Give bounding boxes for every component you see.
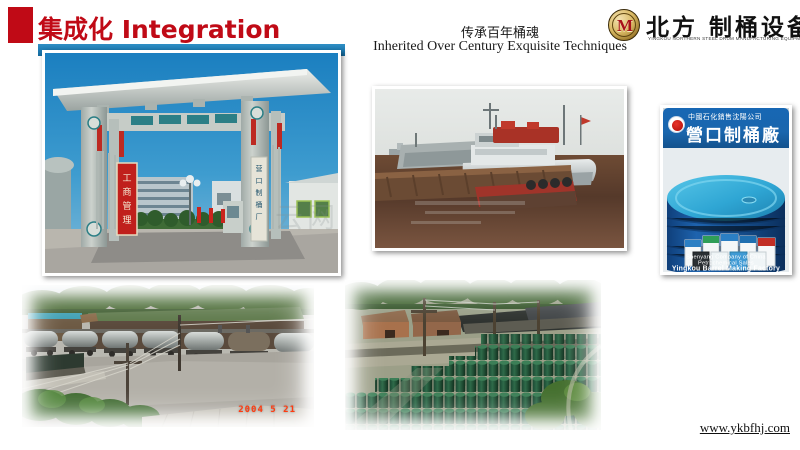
photo-factory-gate: 工商 管理 营口 制桶厂 xyxy=(42,50,341,276)
svg-text:口: 口 xyxy=(256,177,263,185)
banner-board: 中國石化銷售沈陽公司 營口制桶廠 xyxy=(663,108,789,272)
photo-datestamp: 2004 5 21 xyxy=(238,405,296,415)
ship-illustration xyxy=(375,89,624,248)
page-title: 集成化 Integration xyxy=(38,10,280,46)
company-logo: M 北方 制桶设备 YINGKOU NORTHERN STEEL DRUM MA… xyxy=(608,6,794,46)
banner-footer-line3: Yingkou Barrel Making Factory xyxy=(660,265,792,273)
svg-text:制: 制 xyxy=(256,188,263,197)
seal-icon: M xyxy=(608,9,640,41)
photo-drum-storage-yard xyxy=(345,280,601,430)
svg-text:工: 工 xyxy=(122,174,131,184)
svg-text:营: 营 xyxy=(256,164,263,173)
photo-ship-at-dock xyxy=(372,86,627,251)
svg-text:管: 管 xyxy=(122,200,131,212)
company-name-english: YINGKOU NORTHERN STEEL DRUM MANUFACTURIN… xyxy=(648,36,800,41)
drum-yard-illustration xyxy=(345,280,601,430)
seal-letter: M xyxy=(609,10,641,42)
slide-canvas: 集成化 Integration 传承百年桶魂 Inherited Over Ce… xyxy=(0,0,800,450)
factory-gate-illustration: 工商 管理 营口 制桶厂 xyxy=(45,53,338,273)
photo-sinopec-banner: 中國石化銷售沈陽公司 營口制桶廠 xyxy=(660,105,792,275)
banner-header: 中國石化銷售沈陽公司 營口制桶廠 xyxy=(663,108,789,148)
svg-text:厂: 厂 xyxy=(256,213,263,221)
svg-text:桶: 桶 xyxy=(256,200,263,209)
banner-factory-line: 營口制桶廠 xyxy=(686,121,781,146)
sinopec-logo-icon xyxy=(668,116,685,133)
website-url[interactable]: www.ykbfhj.com xyxy=(700,420,790,436)
svg-text:理: 理 xyxy=(122,215,131,226)
photo-rail-tank-cars: 2004 5 21 xyxy=(22,285,314,427)
tagline-english: Inherited Over Century Exquisite Techniq… xyxy=(355,39,645,55)
title-accent-block xyxy=(8,7,33,43)
svg-text:商: 商 xyxy=(122,186,131,198)
